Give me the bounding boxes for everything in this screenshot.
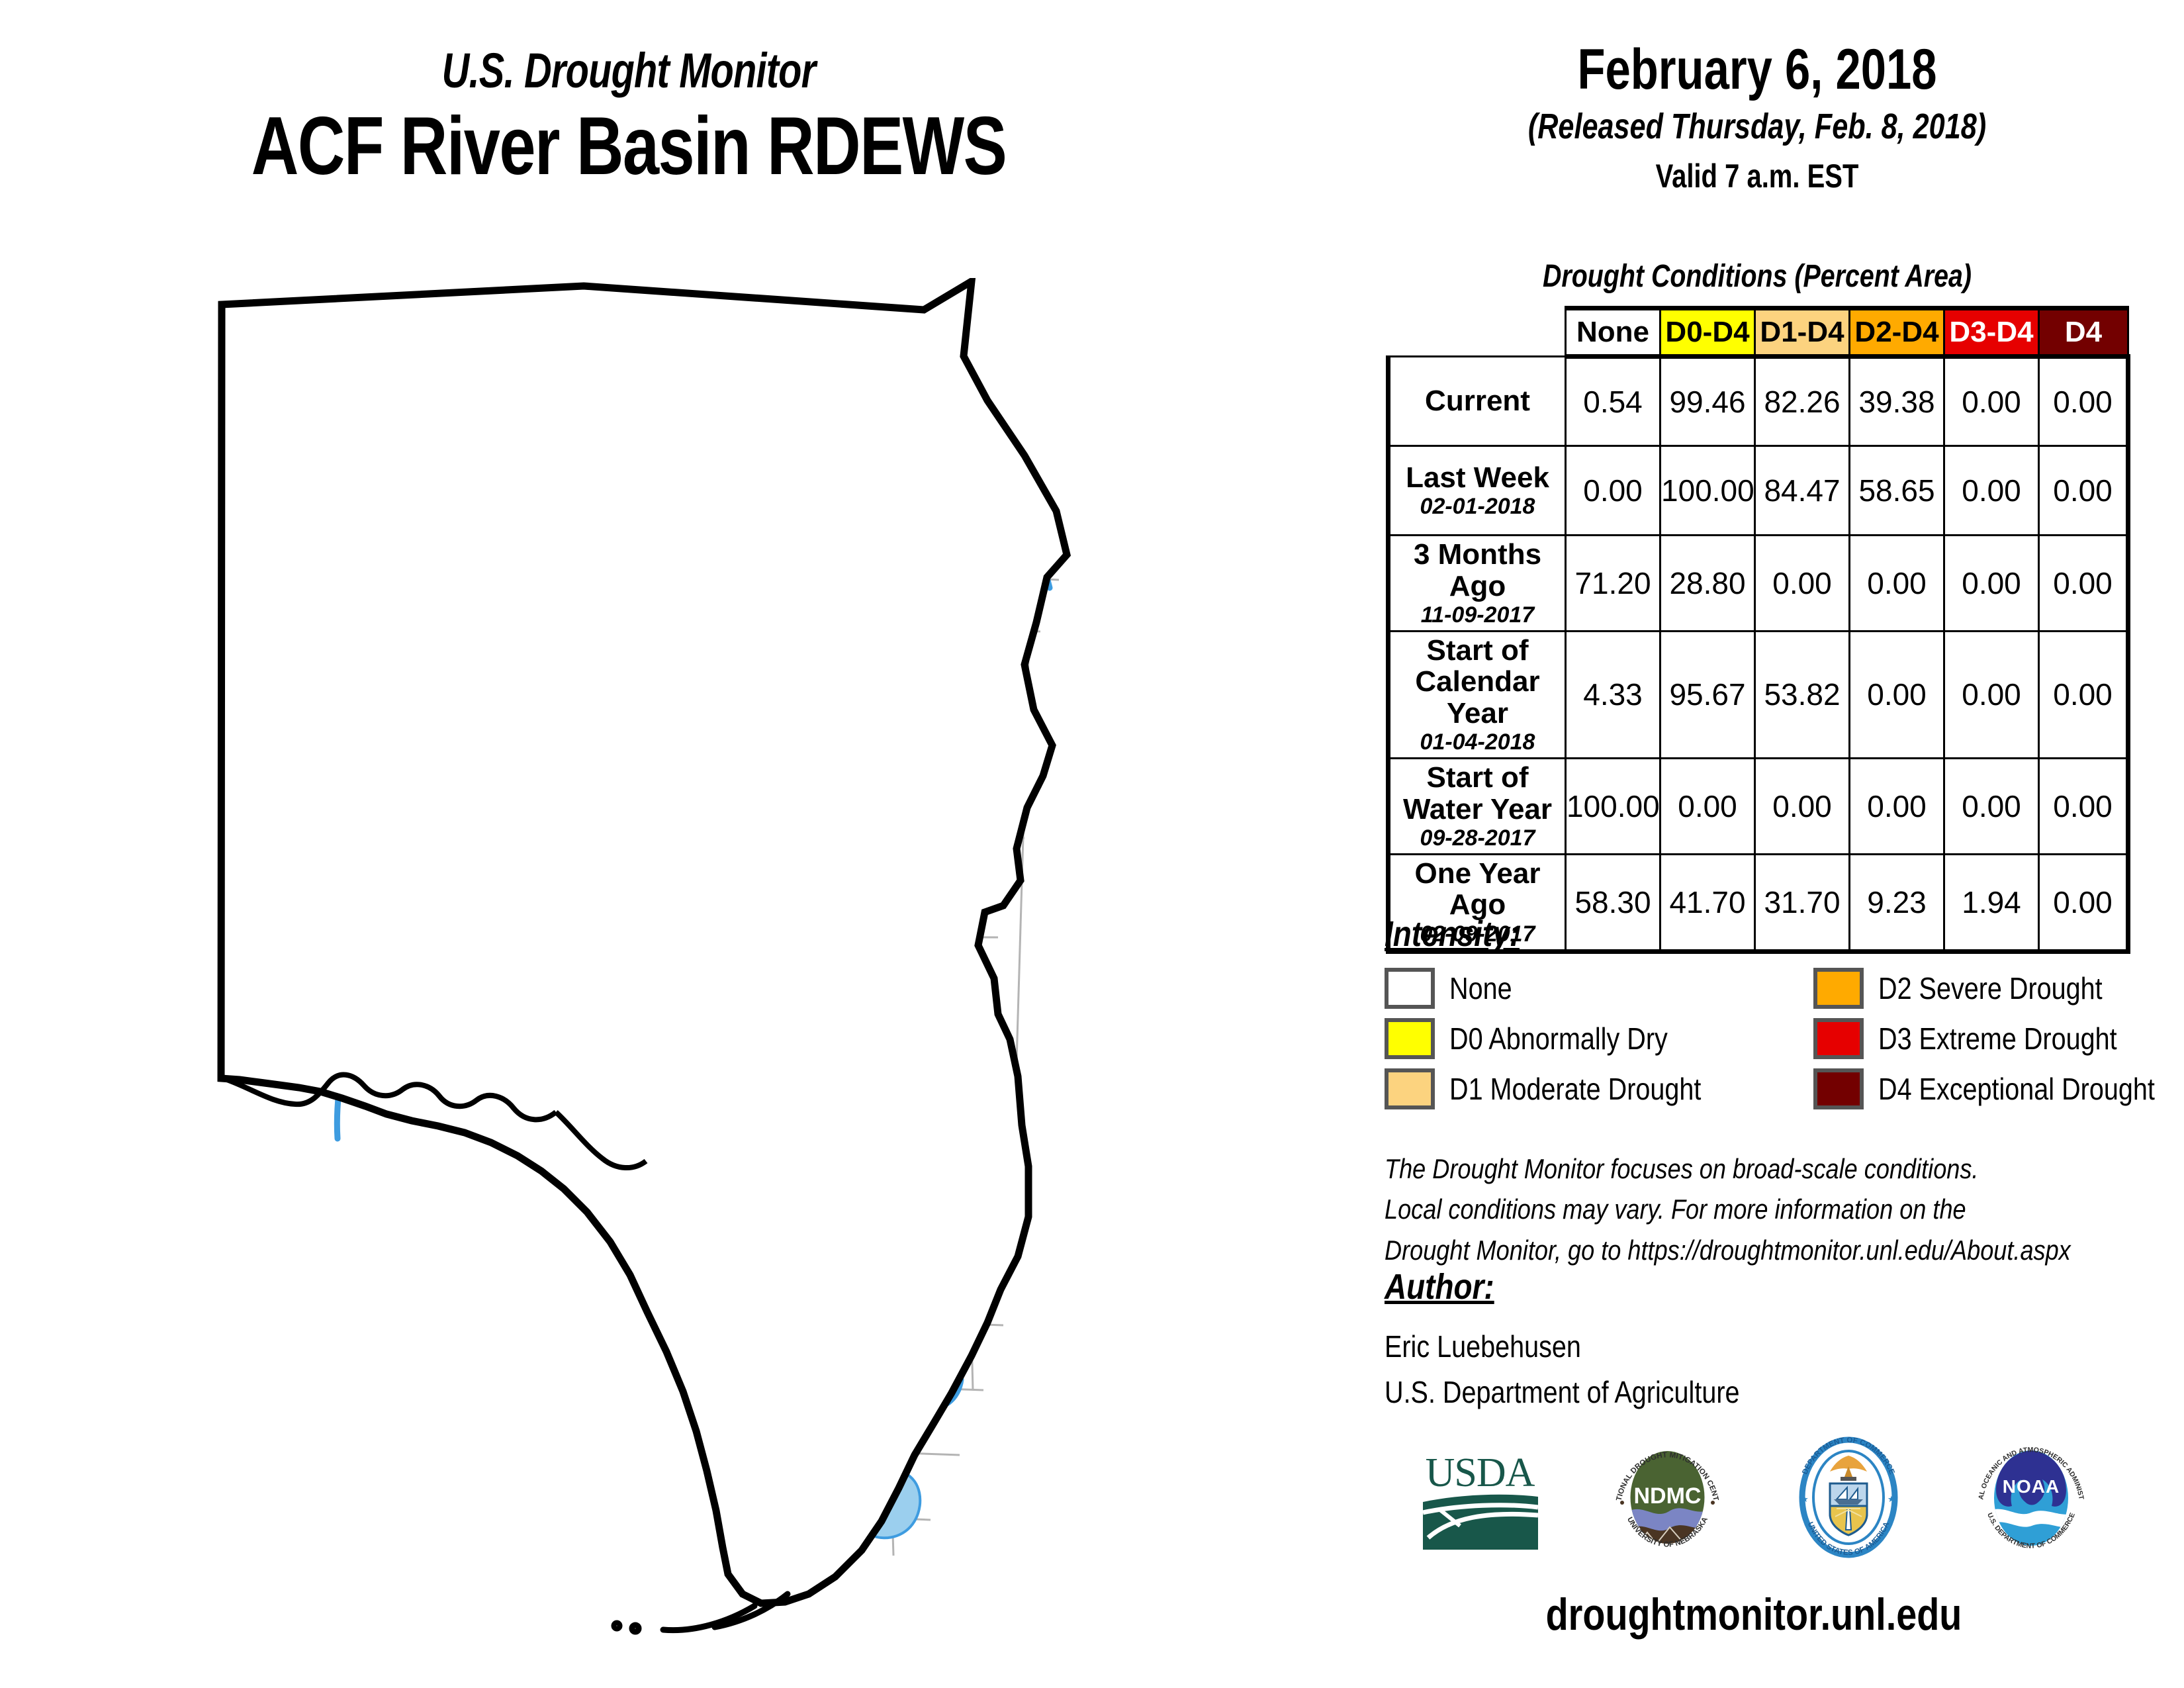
cell-none: 58.30 — [1566, 854, 1661, 951]
svg-text:USDA: USDA — [1425, 1450, 1535, 1495]
cell-none: 4.33 — [1566, 631, 1661, 758]
footer-url: droughtmonitor.unl.edu — [1445, 1589, 2064, 1640]
cell-d0-d4: 41.70 — [1661, 854, 1755, 951]
legend-item-d3: D3 Extreme Drought — [1813, 1018, 2156, 1059]
legend-swatch-d3 — [1813, 1018, 1864, 1059]
svg-text:NDMC: NDMC — [1633, 1483, 1701, 1509]
usda-logo: USDA — [1414, 1438, 1546, 1561]
legend-item-d0: D0 Abnormally Dry — [1385, 1018, 1703, 1059]
table-row: Start ofWater Year09-28-2017100.000.000.… — [1388, 759, 2128, 855]
svg-text:★: ★ — [1888, 1494, 1895, 1504]
cell-d2-d4: 0.00 — [1850, 631, 1944, 758]
cell-d0-d4: 0.00 — [1661, 759, 1755, 855]
cell-d0-d4: 95.67 — [1661, 631, 1755, 758]
table-row: Current0.5499.4682.2639.380.000.00 — [1388, 357, 2128, 446]
table-caption: Drought Conditions (Percent Area) — [1451, 258, 2064, 295]
page-title: ACF River Basin RDEWS — [126, 101, 1132, 193]
legend-label-none: None — [1449, 970, 1512, 1006]
col-header-d4: D4 — [2039, 308, 2128, 357]
cell-d3-d4: 0.00 — [1944, 446, 2039, 536]
legend-label-d0: D0 Abnormally Dry — [1449, 1021, 1668, 1056]
svg-text:★: ★ — [1801, 1494, 1809, 1504]
legend-item-d1: D1 Moderate Drought — [1385, 1068, 1742, 1109]
cell-none: 0.54 — [1566, 357, 1661, 446]
col-header-d2d4: D2-D4 — [1850, 308, 1944, 357]
row-date: 01-04-2018 — [1396, 730, 1559, 755]
date-block: February 6, 2018 (Released Thursday, Feb… — [1383, 40, 2131, 198]
cell-d0-d4: 28.80 — [1661, 536, 1755, 632]
noaa-logo: NOAA NATIONAL OCEANIC AND ATMOSPHERIC AD… — [1968, 1433, 2094, 1566]
table-row: 3 Months Ago11-09-201771.2028.800.000.00… — [1388, 536, 2128, 632]
cell-d1-d4: 31.70 — [1755, 854, 1850, 951]
legend-swatch-d2 — [1813, 968, 1864, 1009]
col-header-none: None — [1566, 308, 1661, 357]
legend-swatch-d1 — [1385, 1068, 1435, 1109]
row-date: 09-28-2017 — [1396, 826, 1559, 851]
cell-d0-d4: 99.46 — [1661, 357, 1755, 446]
row-date: 11-09-2017 — [1396, 603, 1559, 628]
cell-none: 0.00 — [1566, 446, 1661, 536]
drought-map — [172, 278, 1165, 1635]
intensity-heading: Intensity: — [1385, 914, 1520, 955]
cell-d4: 0.00 — [2039, 446, 2128, 536]
legend-label-d2: D2 Severe Drought — [1878, 970, 2103, 1006]
col-header-d3d4: D3-D4 — [1944, 308, 2039, 357]
cell-d1-d4: 82.26 — [1755, 357, 1850, 446]
legend-item-d2: D2 Severe Drought — [1813, 968, 2139, 1009]
table-row: Start ofCalendar Year01-04-20184.3395.67… — [1388, 631, 2128, 758]
legend-label-d4: D4 Exceptional Drought — [1878, 1071, 2155, 1107]
svg-text:NOAA: NOAA — [2003, 1476, 2060, 1497]
cell-d2-d4: 0.00 — [1850, 536, 1944, 632]
cell-d2-d4: 0.00 — [1850, 759, 1944, 855]
legend-item-d4: D4 Exceptional Drought — [1813, 1068, 2184, 1109]
row-label: 3 Months Ago11-09-2017 — [1388, 536, 1566, 632]
cell-d3-d4: 0.00 — [1944, 631, 2039, 758]
drought-conditions-table: None D0-D4 D1-D4 D2-D4 D3-D4 D4 Current0… — [1386, 306, 2130, 954]
legend-swatch-d0 — [1385, 1018, 1435, 1059]
product-subtitle: U.S. Drought Monitor — [138, 46, 1119, 95]
state-outline — [221, 281, 1067, 1603]
row-label: Current — [1388, 357, 1566, 446]
legend-label-d3: D3 Extreme Drought — [1878, 1021, 2117, 1056]
disclaimer-line-1: The Drought Monitor focuses on broad-sca… — [1385, 1149, 2071, 1189]
table-row: Last Week02-01-20180.00100.0084.4758.650… — [1388, 446, 2128, 536]
disclaimer-line-3: Drought Monitor, go to https://droughtmo… — [1385, 1230, 2071, 1270]
valid-date: February 6, 2018 — [1458, 40, 2056, 99]
valid-time: Valid 7 a.m. EST — [1458, 155, 2056, 198]
cell-d0-d4: 100.00 — [1661, 446, 1755, 536]
legend-swatch-d4 — [1813, 1068, 1864, 1109]
disclaimer-text: The Drought Monitor focuses on broad-sca… — [1385, 1149, 2071, 1270]
cell-d2-d4: 9.23 — [1850, 854, 1944, 951]
cell-d1-d4: 84.47 — [1755, 446, 1850, 536]
legend-swatch-none — [1385, 968, 1435, 1009]
cell-d4: 0.00 — [2039, 759, 2128, 855]
cell-d3-d4: 0.00 — [1944, 759, 2039, 855]
disclaimer-line-2: Local conditions may vary. For more info… — [1385, 1189, 2071, 1229]
page-title-block: U.S. Drought Monitor ACF River Basin RDE… — [0, 46, 1257, 193]
row-label: Start ofWater Year09-28-2017 — [1388, 759, 1566, 855]
legend-label-d1: D1 Moderate Drought — [1449, 1071, 1701, 1107]
col-header-d0d4: D0-D4 — [1661, 308, 1755, 357]
ndmc-logo: NDMC NATIONAL DROUGHT MITIGATION CENTER … — [1606, 1433, 1729, 1566]
table-corner-cell — [1388, 308, 1566, 357]
col-header-d1d4: D1-D4 — [1755, 308, 1850, 357]
cell-none: 71.20 — [1566, 536, 1661, 632]
cell-d4: 0.00 — [2039, 854, 2128, 951]
cell-d4: 0.00 — [2039, 631, 2128, 758]
legend-item-none: None — [1385, 968, 1522, 1009]
row-label: Last Week02-01-2018 — [1388, 446, 1566, 536]
table-header-row: None D0-D4 D1-D4 D2-D4 D3-D4 D4 — [1388, 308, 2128, 357]
cell-d1-d4: 53.82 — [1755, 631, 1850, 758]
release-date: (Released Thursday, Feb. 8, 2018) — [1458, 105, 2056, 150]
cell-d4: 0.00 — [2039, 357, 2128, 446]
cell-none: 100.00 — [1566, 759, 1661, 855]
agency-logos: USDA NDMC NATIONAL DROUG — [1383, 1430, 2124, 1569]
author-affiliation: U.S. Department of Agriculture — [1385, 1370, 1740, 1415]
cell-d1-d4: 0.00 — [1755, 759, 1850, 855]
cell-d4: 0.00 — [2039, 536, 2128, 632]
doc-logo: DEPARTMENT OF COMMERCE UNITED STATES OF … — [1789, 1433, 1908, 1566]
cell-d2-d4: 58.65 — [1850, 446, 1944, 536]
row-date: 02-01-2018 — [1396, 494, 1559, 519]
cell-d2-d4: 39.38 — [1850, 357, 1944, 446]
row-label: Start ofCalendar Year01-04-2018 — [1388, 631, 1566, 758]
author-heading: Author: — [1385, 1266, 1494, 1307]
cell-d3-d4: 1.94 — [1944, 854, 2039, 951]
author-name: Eric Luebehusen — [1385, 1324, 1740, 1370]
cell-d1-d4: 0.00 — [1755, 536, 1850, 632]
cell-d3-d4: 0.00 — [1944, 357, 2039, 446]
cell-d3-d4: 0.00 — [1944, 536, 2039, 632]
author-block: Eric Luebehusen U.S. Department of Agric… — [1385, 1324, 1740, 1415]
